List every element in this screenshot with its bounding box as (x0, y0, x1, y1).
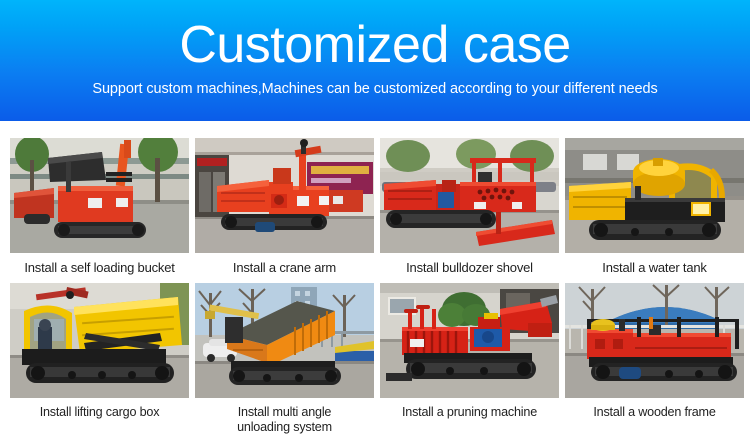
gallery-row: Install a self loading bucket (10, 138, 741, 275)
gallery-item-wooden-frame[interactable]: Install a wooden frame (565, 283, 744, 434)
machine-photo-multi-angle-unloading[interactable] (195, 283, 374, 398)
gallery-item-water-tank[interactable]: Install a water tank (565, 138, 744, 275)
gallery-item-caption: Install a wooden frame (565, 398, 744, 420)
gallery-item-caption: Install a water tank (565, 253, 744, 275)
page-title: Customized case (0, 18, 750, 72)
gallery-item-caption: Install a crane arm (195, 253, 374, 275)
customized-case-page: Customized case Support custom machines,… (0, 0, 750, 434)
gallery-item-multi-angle-unloading[interactable]: Install multi angle unloading system (195, 283, 374, 434)
page-subtitle: Support custom machines,Machines can be … (0, 80, 750, 98)
gallery-item-lifting-cargo-box[interactable]: Install lifting cargo box (10, 283, 189, 434)
gallery-item-crane-arm[interactable]: Install a crane arm (195, 138, 374, 275)
gallery-item-caption: Install multi angle unloading system (195, 398, 374, 434)
machine-photo-lifting-cargo-box[interactable] (10, 283, 189, 398)
machine-photo-bulldozer-shovel[interactable] (380, 138, 559, 253)
gallery-item-caption: Install a self loading bucket (10, 253, 189, 275)
machine-photo-pruning-machine[interactable] (380, 283, 559, 398)
machine-photo-self-loading-bucket[interactable] (10, 138, 189, 253)
gallery-item-self-loading-bucket[interactable]: Install a self loading bucket (10, 138, 189, 275)
gallery-item-caption: Install a pruning machine (380, 398, 559, 420)
gallery-item-bulldozer-shovel[interactable]: Install bulldozer shovel (380, 138, 559, 275)
machine-photo-crane-arm[interactable] (195, 138, 374, 253)
case-gallery: Install a self loading bucket (10, 138, 741, 434)
machine-photo-water-tank[interactable] (565, 138, 744, 253)
gallery-item-caption: Install lifting cargo box (10, 398, 189, 420)
machine-photo-wooden-frame[interactable] (565, 283, 744, 398)
page-banner: Customized case Support custom machines,… (0, 0, 750, 121)
gallery-item-pruning-machine[interactable]: Install a pruning machine (380, 283, 559, 434)
gallery-item-caption: Install bulldozer shovel (380, 253, 559, 275)
gallery-row: Install lifting cargo box (10, 283, 741, 434)
